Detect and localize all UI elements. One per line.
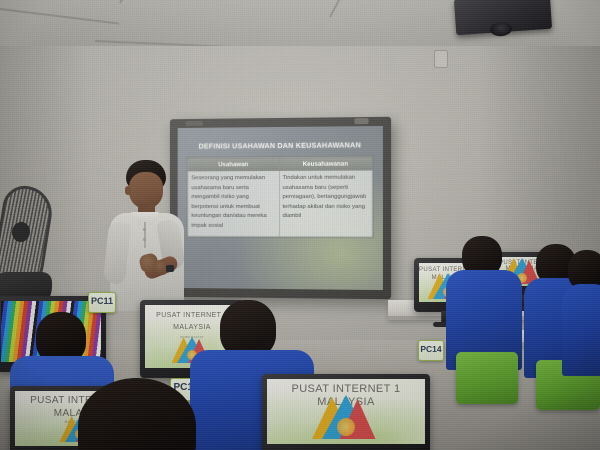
student-shirt [562,284,600,376]
classroom-photo: DEFINISI USAHAWAN DAN KEUSAHAWANAN Usaha… [0,0,600,450]
whiteboard-pen-tray [185,121,203,126]
presenter-shirt-button [143,238,146,241]
presentation-slide: DEFINISI USAHAWAN DAN KEUSAHAWANAN Usaha… [178,126,383,290]
cell-usahawan-definition: Seseorang yang memulakan usahasama baru … [188,171,279,237]
table-header-row: Usahawan Keusahawanan [188,157,372,171]
ceiling-grid-line [0,8,119,25]
desktop-wallpaper-1malaysia: PUSAT INTERNET 1 MALAYSIA KKMM RAKYAT [267,379,425,444]
slide-title: DEFINISI USAHAWAN DAN KEUSAHAWANAN [187,140,372,150]
interactive-whiteboard[interactable]: DEFINISI USAHAWAN DAN KEUSAHAWANAN Usaha… [170,117,391,300]
student-right-a [452,236,530,366]
student-center [78,378,198,450]
pc-label-pc11: PC11 [88,292,116,313]
chair-right-a[interactable] [456,352,518,404]
presenter-wristwatch [166,265,174,272]
wall-socket [434,50,448,68]
pedestal-fan [0,186,56,314]
pc-label-pc14: PC14 [418,340,444,361]
table-row: Seseorang yang memulakan usahasama baru … [188,170,372,237]
ceiling-grid-line [329,0,359,17]
monitor-screen: PUSAT INTERNET 1 MALAYSIA KKMM RAKYAT [267,379,425,444]
wallpaper-line1: PUSAT INTERNET 1 [267,383,425,395]
cell-keusahawanan-definition: Tindakan untuk memulakan usahasama baru … [279,170,372,237]
monitor-center-front[interactable]: PUSAT INTERNET 1 MALAYSIA KKMM RAKYAT [262,374,430,450]
presenter-placket [144,222,146,248]
column-header-usahawan: Usahawan [188,158,279,171]
presenter-ear [125,186,131,195]
projected-slide-surface: DEFINISI USAHAWAN DAN KEUSAHAWANAN Usaha… [178,126,383,290]
column-header-keusahawanan: Keusahawanan [279,157,372,171]
ceiling-grid-line [119,0,158,4]
student-head [78,378,196,450]
whiteboard-pen-tray [354,118,368,124]
student-far-right [566,250,600,370]
logo-circle [337,418,355,436]
slide-table: Usahawan Keusahawanan Seseorang yang mem… [187,156,372,237]
presenter-shirt-button [143,228,146,231]
